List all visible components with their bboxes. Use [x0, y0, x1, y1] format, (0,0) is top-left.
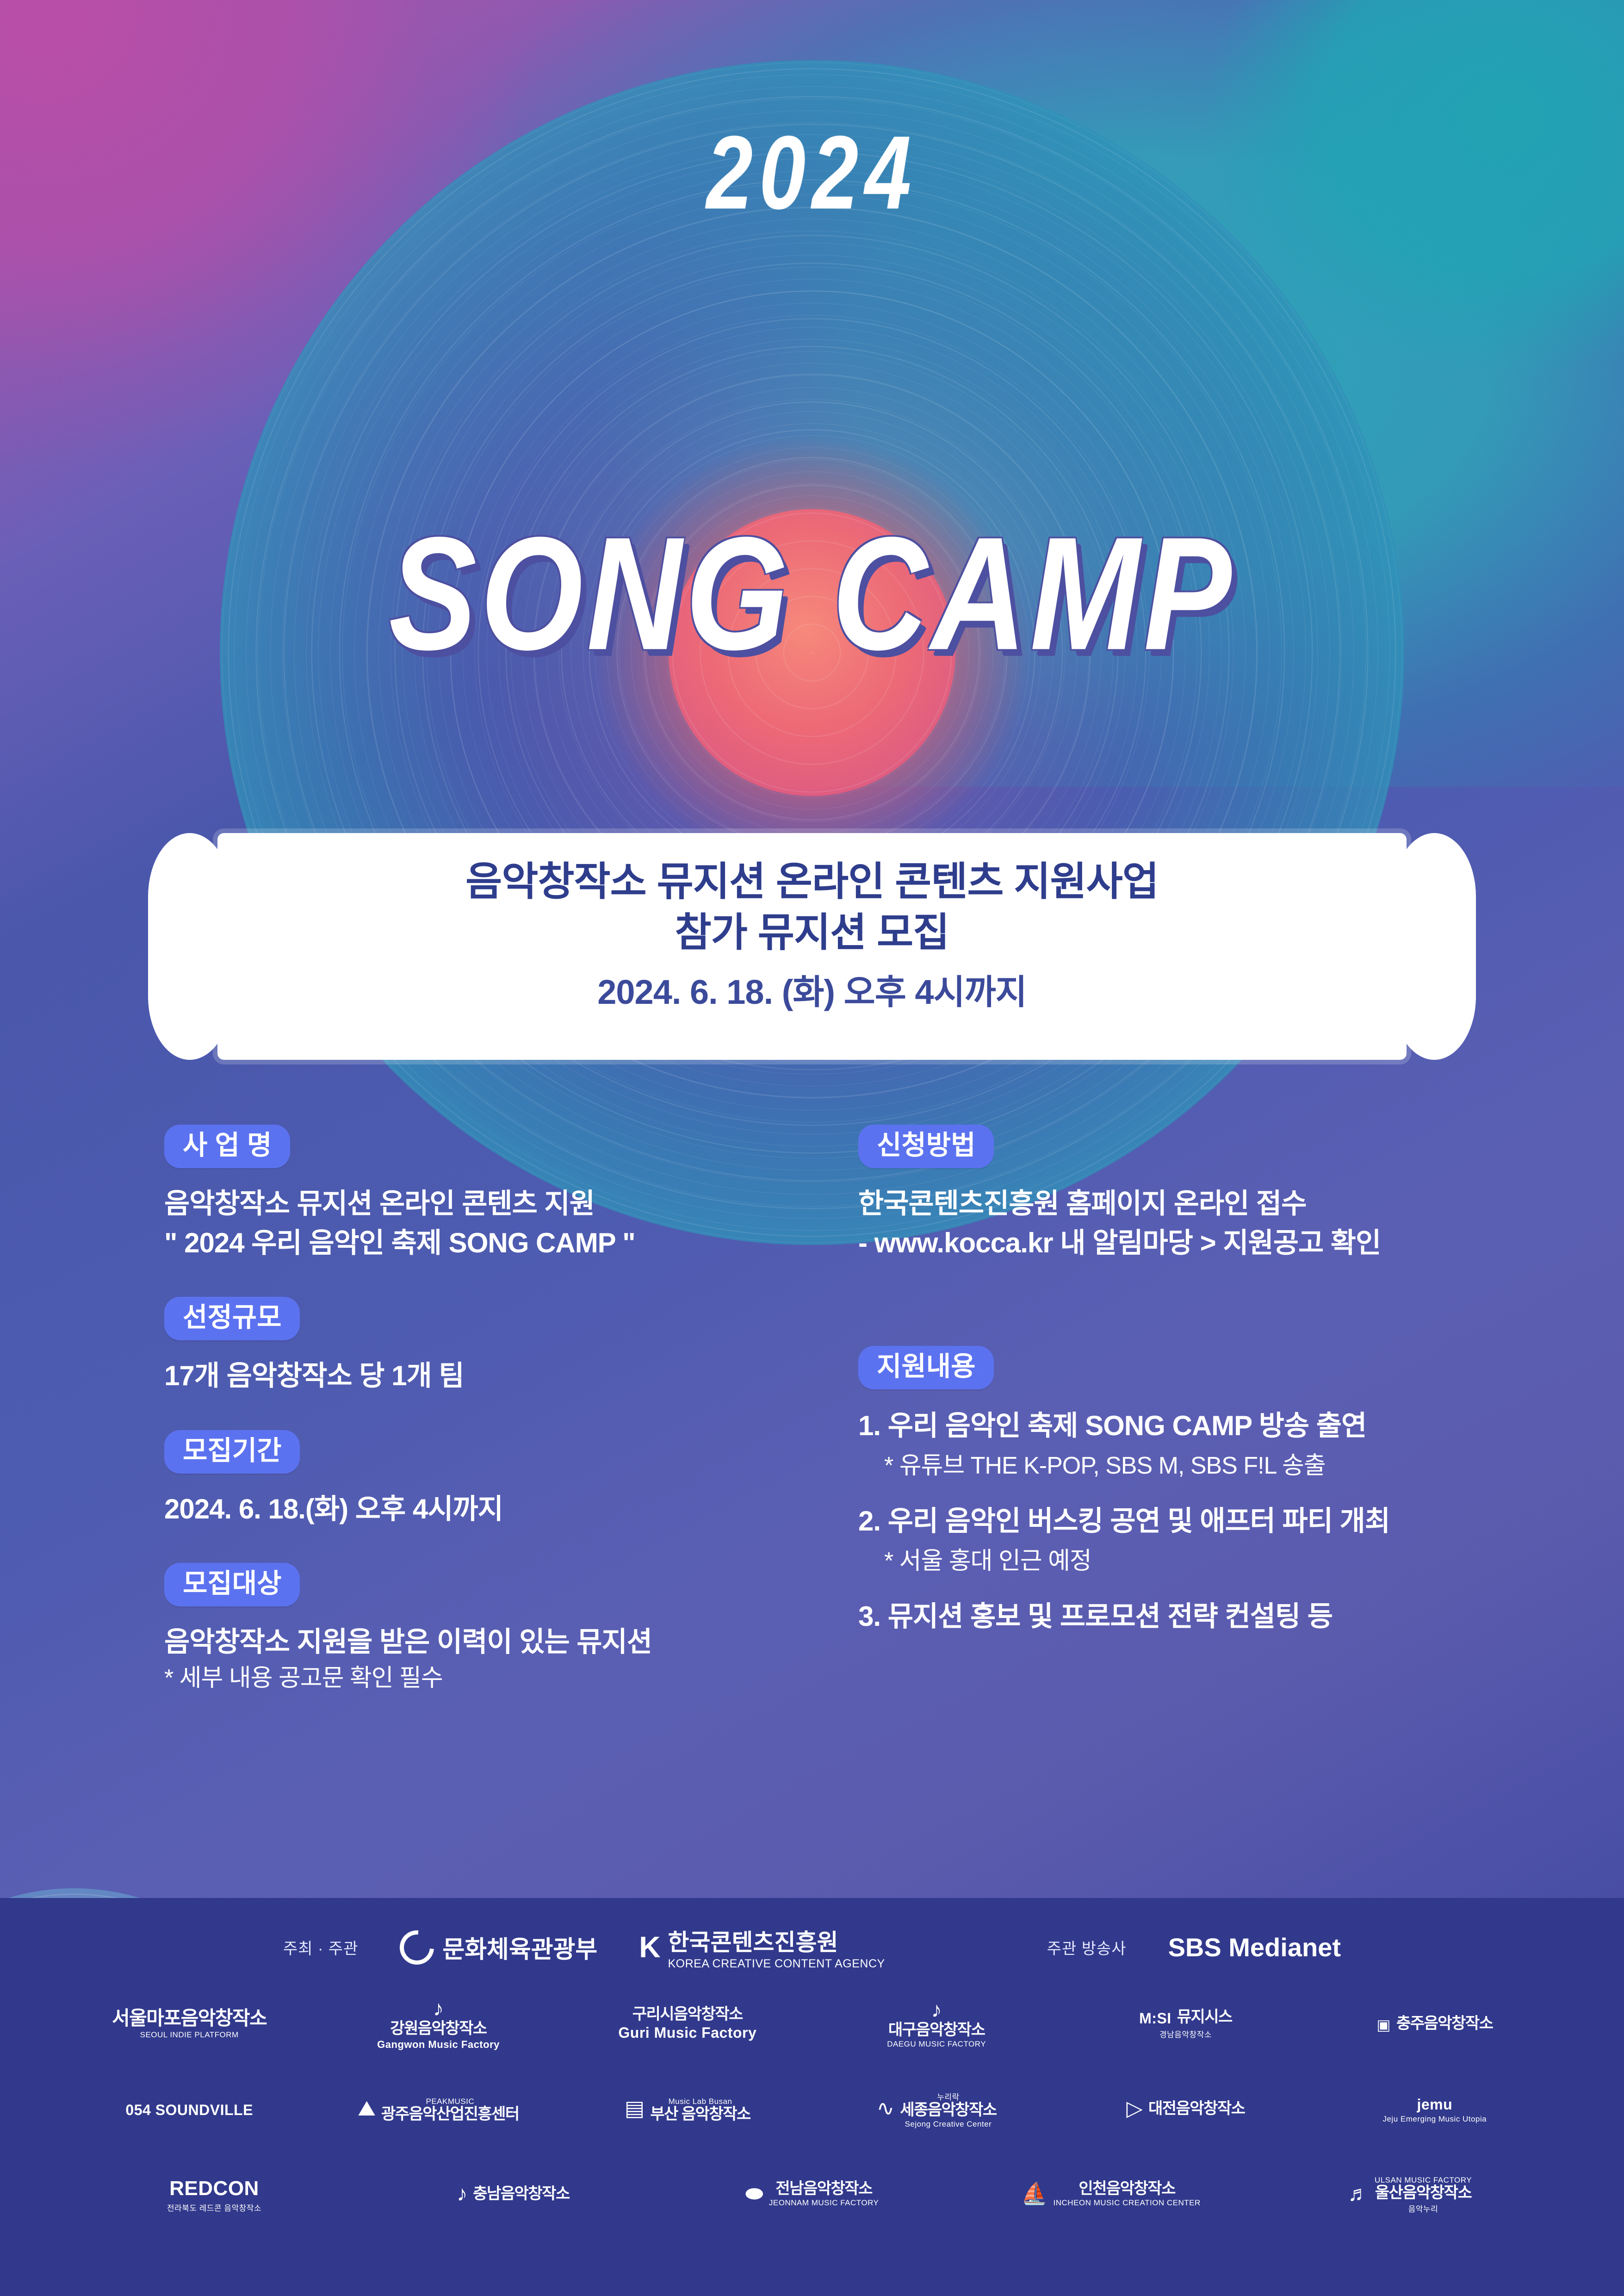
project-name-body: 음악창작소 뮤지션 온라인 콘텐츠 지원 " 2024 우리 음악인 축제 SO…: [164, 1184, 868, 1263]
sponsor-logo-row-3: REDCON 전라북도 레드콘 음악창작소 ♪ 충남음악창작소 ⬬ 전남음악창작…: [65, 2155, 1559, 2234]
pill-selection-scale: 선정규모: [164, 1297, 300, 1340]
logo-musicis-kr: 뮤지시스: [1177, 2009, 1232, 2026]
beamed-notes-icon: ♬: [1348, 2183, 1369, 2204]
treble-clef-icon: ♪: [931, 1999, 942, 2020]
kocca-korean: 한국콘텐츠진흥원: [668, 1924, 885, 1957]
logo-jemu: jemu Jeju Emerging Music Utopia: [1310, 2094, 1559, 2124]
logo-kocca: K 한국콘텐츠진흥원 KOREA CREATIVE CONTENT AGENCY: [639, 1924, 885, 1971]
support-item-2: 2. 우리 음악인 버스킹 공연 및 애프터 파티 개최 * 서울 홍대 인근 …: [858, 1503, 1580, 1577]
recruit-period-body: 2024. 6. 18.(화) 오후 4시까지: [164, 1489, 868, 1529]
logo-redcon-tag: 전라북도 레드콘 음악창작소: [167, 2202, 261, 2213]
songcamp-wordmark: SONG CAMP: [0, 502, 1624, 686]
logo-sejong-text: 누리락 세종음악창작소 Sejong Creative Center: [900, 2089, 996, 2129]
card-deadline: 2024. 6. 18. (화) 오후 4시까지: [217, 964, 1407, 1014]
logo-ulsan-en: ULSAN MUSIC FACTORY: [1375, 2176, 1472, 2185]
logo-gwangju-row: ⛰ PEAKMUSIC 광주음악산업진흥센터: [358, 2096, 519, 2123]
logo-chungju: ▣ 충주음악창작소: [1310, 2015, 1559, 2034]
mcst-label: 문화체육관광부: [442, 1930, 597, 1965]
logo-guri: 구리시음악창작소 Guri Music Factory: [563, 2006, 812, 2041]
logo-gwangju-text: PEAKMUSIC 광주음악산업진흥센터: [381, 2096, 519, 2123]
sailboat-icon: ⛵: [1021, 2183, 1048, 2204]
logo-sejong-kr: 세종음악창작소: [900, 2102, 996, 2119]
logo-gwangju-en: PEAKMUSIC: [381, 2097, 519, 2106]
support-item-1-note: * 유튜브 THE K-POP, SBS M, SBS F!L 송출: [884, 1450, 1580, 1482]
logo-jeonnam-en: JEONNAM MUSIC FACTORY: [769, 2198, 879, 2208]
how-to-apply-line-1: 한국콘텐츠진흥원 홈페이지 온라인 접수: [858, 1184, 1580, 1223]
info-block-recruit-period: 모집기간 2024. 6. 18.(화) 오후 4시까지: [164, 1430, 868, 1529]
logo-seoul-mapo-kr: 서울마포음악창작소: [112, 2008, 267, 2028]
logo-gangwon-kr: 강원음악창작소: [390, 2021, 486, 2037]
logo-musicis-tag: 경남음악창작소: [1159, 2028, 1212, 2040]
logo-busan-musiclab: ▤ Music Lab Busan 부산 음악창작소: [563, 2096, 812, 2123]
square-mark-icon: ▣: [1376, 2016, 1391, 2034]
support-item-1-main: 1. 우리 음악인 축제 SONG CAMP 방송 출연: [858, 1408, 1580, 1444]
logo-jemu-en: jemu: [1417, 2096, 1452, 2113]
logo-daejeon-kr: 대전음악창작소: [1148, 2101, 1245, 2117]
logo-daegu-en: DAEGU MUSIC FACTORY: [887, 2040, 986, 2049]
logo-ulsan-tag: 음악누리: [1375, 2203, 1472, 2214]
logo-seoul-mapo-tag: SEOUL INDIE PLATFORM: [140, 2030, 239, 2040]
selection-scale-body: 17개 음악창작소 당 1개 팀: [164, 1356, 868, 1395]
logo-ulsan: ♬ ULSAN MUSIC FACTORY 울산음악창작소 음악누리: [1260, 2174, 1559, 2215]
broadcaster-label: 주관 방송사: [1047, 1936, 1127, 1959]
logo-sejong-tag: 누리락: [900, 2091, 996, 2102]
logo-gangwon: ♪ 강원음악창작소 Gangwon Music Factory: [314, 1997, 563, 2051]
logo-busan-text: Music Lab Busan 부산 음악창작소: [650, 2096, 750, 2123]
project-name-line-1: 음악창작소 뮤지션 온라인 콘텐츠 지원: [164, 1184, 868, 1223]
logo-seoul-mapo: 서울마포음악창작소 SEOUL INDIE PLATFORM: [65, 2008, 314, 2039]
logo-sbs-medianet: SBS Medianet: [1168, 1932, 1341, 1962]
logo-gangwon-en: Gangwon Music Factory: [377, 2039, 500, 2050]
mountain-icon: ⛰: [358, 2097, 376, 2119]
eligibility-body: 음악창작소 지원을 받은 이력이 있는 뮤지션 * 세부 내용 공고문 확인 필…: [164, 1622, 868, 1696]
eighth-note-icon: ♪: [457, 2183, 467, 2204]
logo-daejeon: ▷ 대전음악창작소: [1061, 2097, 1310, 2121]
info-column-left: 사 업 명 음악창작소 뮤지션 온라인 콘텐츠 지원 " 2024 우리 음악인…: [164, 1125, 868, 1730]
logo-jemu-tag: Jeju Emerging Music Utopia: [1382, 2115, 1487, 2124]
kocca-english: KOREA CREATIVE CONTENT AGENCY: [668, 1957, 885, 1971]
logo-busan-en: Music Lab Busan: [650, 2097, 750, 2106]
info-block-eligibility: 모집대상 음악창작소 지원을 받은 이력이 있는 뮤지션 * 세부 내용 공고문…: [164, 1563, 868, 1696]
logo-daegu: ♪ 대구음악창작소 DAEGU MUSIC FACTORY: [812, 1999, 1061, 2049]
sponsor-logo-row-2: 054 SOUNDVILLE ⛰ PEAKMUSIC 광주음악산업진흥센터 ▤: [65, 2070, 1559, 2148]
logo-daejeon-row: ▷ 대전음악창작소: [1127, 2097, 1245, 2121]
kocca-k-icon: K: [639, 1934, 660, 1961]
logo-soundville-en: 054 SOUNDVILLE: [125, 2102, 253, 2119]
info-column-right: 신청방법 한국콘텐츠진흥원 홈페이지 온라인 접수 - www.kocca.kr…: [858, 1125, 1580, 1669]
sponsor-logo-grid: 서울마포음악창작소 SEOUL INDIE PLATFORM ♪ 강원음악창작소…: [0, 1985, 1624, 2234]
card-line-1: 음악창작소 뮤지션 온라인 콘텐츠 지원사업: [217, 856, 1407, 907]
arched-korean-title: 우리음악인축제: [0, 259, 1624, 454]
card-line-2: 참가 뮤지션 모집: [217, 907, 1407, 958]
logo-musicis: M:SI 뮤지시스 경남음악창작소: [1061, 2008, 1310, 2040]
sponsor-logo-row-1: 서울마포음악창작소 SEOUL INDIE PLATFORM ♪ 강원음악창작소…: [65, 1985, 1559, 2063]
pill-recruit-period: 모집기간: [164, 1430, 300, 1474]
logo-gwangju-kr: 광주음악산업진흥센터: [381, 2106, 519, 2123]
poster-canvas: 2024 우리음악인축제 SONG CAMP 음악창작소 뮤지션 온라인 콘텐츠…: [0, 0, 1624, 2296]
recruit-period-line-1: 2024. 6. 18.(화) 오후 4시까지: [164, 1489, 868, 1529]
logo-jeonnam-text: 전남음악창작소 JEONNAM MUSIC FACTORY: [769, 2181, 879, 2208]
eligibility-line-1: 음악창작소 지원을 받은 이력이 있는 뮤지션: [164, 1622, 868, 1661]
logo-sejong-en: Sejong Creative Center: [900, 2120, 996, 2129]
info-block-how-to-apply: 신청방법 한국콘텐츠진흥원 홈페이지 온라인 접수 - www.kocca.kr…: [858, 1125, 1580, 1263]
support-item-3-main: 3. 뮤지션 홍보 및 프로모션 전략 컨설팅 등: [858, 1599, 1580, 1635]
project-name-line-2: " 2024 우리 음악인 축제 SONG CAMP ": [164, 1223, 868, 1263]
oval-mark-icon: ⬬: [745, 2183, 763, 2204]
logo-sejong-row: ∿ 누리락 세종음악창작소 Sejong Creative Center: [877, 2089, 997, 2129]
logo-guri-en: Guri Music Factory: [618, 2024, 756, 2041]
mcst-taegeuk-icon: [393, 1923, 441, 1971]
logo-chungnam: ♪ 충남음악창작소: [364, 2183, 663, 2206]
logo-ulsan-text: ULSAN MUSIC FACTORY 울산음악창작소 음악누리: [1375, 2174, 1472, 2215]
sponsor-footer: 주최 · 주관 문화체육관광부 K 한국콘텐츠진흥원 KOREA CREATIV…: [0, 1898, 1624, 2296]
musicis-monogram-icon: M:SI: [1139, 2010, 1172, 2027]
logo-incheon-kr: 인천음악창작소: [1053, 2181, 1200, 2197]
play-mark-icon: ▷: [1127, 2097, 1143, 2119]
logo-ulsan-row: ♬ ULSAN MUSIC FACTORY 울산음악창작소 음악누리: [1348, 2174, 1472, 2215]
announcement-card: 음악창작소 뮤지션 온라인 콘텐츠 지원사업 참가 뮤지션 모집 2024. 6…: [217, 833, 1407, 1060]
logo-redcon-en: REDCON: [169, 2177, 259, 2201]
support-content-body: 1. 우리 음악인 축제 SONG CAMP 방송 출연 * 유튜브 THE K…: [858, 1408, 1580, 1634]
logo-chungju-kr: 충주음악창작소: [1396, 2016, 1493, 2032]
support-item-2-main: 2. 우리 음악인 버스킹 공연 및 애프터 파티 개최: [858, 1503, 1580, 1539]
footer-organizers: 주최 · 주관 문화체육관광부 K 한국콘텐츠진흥원 KOREA CREATIV…: [0, 1898, 1624, 1971]
pill-how-to-apply: 신청방법: [858, 1125, 994, 1168]
selection-scale-line-1: 17개 음악창작소 당 1개 팀: [164, 1356, 868, 1395]
logo-incheon-text: 인천음악창작소 INCHEON MUSIC CREATION CENTER: [1053, 2181, 1200, 2208]
logo-jeonnam: ⬬ 전남음악창작소 JEONNAM MUSIC FACTORY: [663, 2181, 961, 2208]
logo-redcon: REDCON 전라북도 레드콘 음악창작소: [65, 2175, 364, 2214]
logo-gwangju-peakmusic: ⛰ PEAKMUSIC 광주음악산업진흥센터: [314, 2096, 563, 2123]
logo-chungnam-kr: 충남음악창작소: [473, 2186, 569, 2203]
year-heading: 2024: [0, 113, 1624, 233]
info-block-support-content: 지원내용 1. 우리 음악인 축제 SONG CAMP 방송 출연 * 유튜브 …: [858, 1346, 1580, 1634]
logo-chungnam-row: ♪ 충남음악창작소: [457, 2183, 569, 2206]
eligibility-note: * 세부 내용 공고문 확인 필수: [164, 1661, 868, 1696]
pill-support-content: 지원내용: [858, 1346, 994, 1389]
logo-sejong: ∿ 누리락 세종음악창작소 Sejong Creative Center: [812, 2089, 1061, 2129]
info-block-selection-scale: 선정규모 17개 음악창작소 당 1개 팀: [164, 1297, 868, 1395]
logo-chungju-row: ▣ 충주음악창작소: [1376, 2015, 1493, 2034]
logo-musicis-row: M:SI 뮤지시스: [1139, 2008, 1232, 2027]
logo-soundville: 054 SOUNDVILLE: [65, 2100, 314, 2119]
wave-icon: ∿: [877, 2097, 895, 2119]
info-block-project-name: 사 업 명 음악창작소 뮤지션 온라인 콘텐츠 지원 " 2024 우리 음악인…: [164, 1125, 868, 1263]
logo-busan-row: ▤ Music Lab Busan 부산 음악창작소: [625, 2096, 750, 2123]
logo-incheon: ⛵ 인천음악창작소 INCHEON MUSIC CREATION CENTER: [961, 2181, 1260, 2208]
logo-daegu-kr: 대구음악창작소: [888, 2022, 985, 2039]
support-item-2-note: * 서울 홍대 인근 예정: [884, 1546, 1580, 1577]
support-item-3: 3. 뮤지션 홍보 및 프로모션 전략 컨설팅 등: [858, 1599, 1580, 1635]
music-note-icon: ♪: [433, 1997, 444, 2019]
support-item-1: 1. 우리 음악인 축제 SONG CAMP 방송 출연 * 유튜브 THE K…: [858, 1408, 1580, 1482]
bar-grid-icon: ▤: [625, 2097, 645, 2119]
kocca-text: 한국콘텐츠진흥원 KOREA CREATIVE CONTENT AGENCY: [668, 1924, 885, 1971]
pill-eligibility: 모집대상: [164, 1563, 300, 1606]
logo-mcst: 문화체육관광부: [400, 1930, 597, 1965]
logo-incheon-en: INCHEON MUSIC CREATION CENTER: [1053, 2198, 1200, 2208]
pill-project-name: 사 업 명: [164, 1125, 290, 1168]
logo-busan-kr: 부산 음악창작소: [650, 2106, 750, 2123]
logo-jeonnam-row: ⬬ 전남음악창작소 JEONNAM MUSIC FACTORY: [745, 2181, 879, 2208]
logo-guri-kr: 구리시음악창작소: [632, 2006, 743, 2023]
logo-incheon-row: ⛵ 인천음악창작소 INCHEON MUSIC CREATION CENTER: [1021, 2181, 1201, 2208]
host-label: 주최 · 주관: [283, 1936, 358, 1959]
logo-ulsan-kr: 울산음악창작소: [1375, 2185, 1472, 2202]
how-to-apply-body: 한국콘텐츠진흥원 홈페이지 온라인 접수 - www.kocca.kr 내 알림…: [858, 1184, 1580, 1263]
logo-jeonnam-kr: 전남음악창작소: [769, 2181, 879, 2197]
how-to-apply-line-2: - www.kocca.kr 내 알림마당 > 지원공고 확인: [858, 1223, 1580, 1263]
